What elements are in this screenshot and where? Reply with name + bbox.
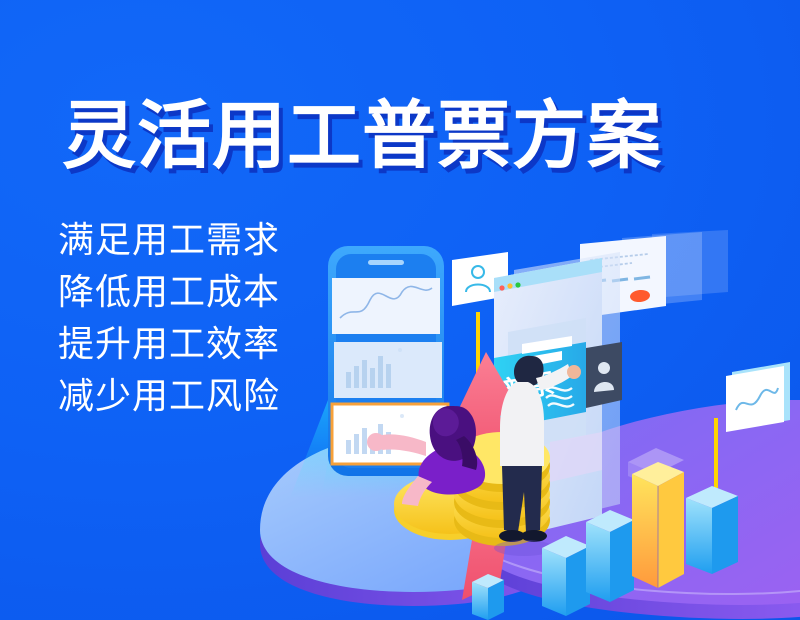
benefit-item-1: 满足用工需求 xyxy=(58,214,280,266)
benefit-item-2: 降低用工成本 xyxy=(58,266,280,318)
poster-canvas: 灵活用工普票方案 满足用工需求 降低用工成本 提升用工效率 减少用工风险 xyxy=(0,0,800,620)
benefit-item-4: 减少用工风险 xyxy=(58,370,280,422)
isometric-illustration: 普票 xyxy=(250,230,800,620)
benefit-list: 满足用工需求 降低用工成本 提升用工效率 减少用工风险 xyxy=(58,214,280,422)
bar-3-highlight xyxy=(628,448,684,588)
bar-2 xyxy=(586,510,634,602)
benefit-item-3: 提升用工效率 xyxy=(58,318,280,370)
bar-4 xyxy=(686,486,738,574)
line-chart-card xyxy=(726,362,790,432)
phone-card-line-chart xyxy=(332,278,440,334)
photo-panel xyxy=(586,342,622,408)
bar-5-small xyxy=(472,574,504,620)
page-title: 灵活用工普票方案 xyxy=(62,90,762,182)
bar-1 xyxy=(542,536,590,616)
phone-card-bar-chart xyxy=(334,342,442,398)
